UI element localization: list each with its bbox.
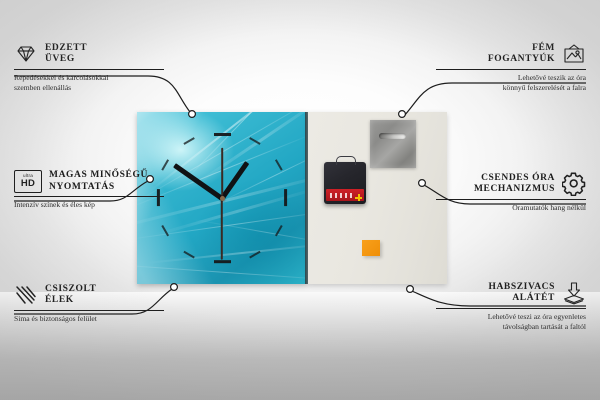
foam-spacer-pad — [362, 240, 380, 256]
callout-header: CSENDES ÓRAMECHANIZMUS — [436, 172, 586, 196]
callout-description: Lehetővé teszik az órakönnyű felszerelés… — [436, 73, 586, 92]
callout-header: HABSZIVACSALÁTÉT — [436, 281, 586, 305]
second-hand-tail — [221, 148, 223, 198]
callout-csendes-ora-mechanizmus: CSENDES ÓRAMECHANIZMUS Óramutatók hang n… — [436, 172, 586, 213]
callout-csiszolt-elek: CSISZOLTÉLEK Sima és biztonságos felület — [14, 283, 164, 324]
callout-rule — [14, 69, 164, 70]
beveled-edge-icon — [14, 283, 38, 307]
callout-rule — [436, 69, 586, 70]
callout-description: Óramutatók hang nélkül — [436, 203, 586, 213]
callout-title: EDZETTÜVEG — [45, 43, 87, 66]
gear-icon — [562, 172, 586, 196]
metal-hanger-plate — [370, 120, 416, 168]
callout-title: FÉMFOGANTYÚK — [488, 43, 555, 66]
hour-hand — [220, 161, 249, 200]
clock-back-panel — [308, 112, 447, 284]
callout-rule — [14, 196, 164, 197]
second-hand — [221, 198, 223, 260]
callout-rule — [436, 199, 586, 200]
product-wall-clock — [137, 112, 447, 284]
hanger-keyhole-slot — [379, 133, 406, 139]
movement-bail — [336, 156, 356, 165]
callout-rule — [14, 310, 164, 311]
callout-description: Repedésekkel és karcolásokkalszemben ell… — [14, 73, 164, 92]
clock-center-pin — [220, 196, 225, 201]
callout-description: Lehetővé teszi az óra egyenletestávolság… — [436, 312, 586, 331]
callout-header: ultraHD MAGAS MINŐSÉGŰNYOMTATÁS — [14, 170, 164, 193]
minute-hand — [173, 163, 223, 200]
callout-header: EDZETTÜVEG — [14, 42, 164, 66]
picture-hanger-icon — [562, 42, 586, 66]
callout-title: HABSZIVACSALÁTÉT — [488, 282, 555, 305]
press-pad-icon — [562, 281, 586, 305]
callout-magas-minosegu-nyomtatas: ultraHD MAGAS MINŐSÉGŰNYOMTATÁS Intenzív… — [14, 170, 164, 210]
ultra-hd-icon: ultraHD — [14, 170, 42, 193]
callout-header: FÉMFOGANTYÚK — [436, 42, 586, 66]
callout-title: MAGAS MINŐSÉGŰNYOMTATÁS — [49, 170, 148, 193]
callout-edzett-uveg: EDZETTÜVEG Repedésekkel és karcolásokkal… — [14, 42, 164, 92]
diamond-icon — [14, 42, 38, 66]
quartz-clock-movement — [324, 162, 366, 204]
callout-fem-fogantyuk: FÉMFOGANTYÚK Lehetővé teszik az órakönny… — [436, 42, 586, 92]
callout-description: Intenzív színek és éles kép — [14, 200, 164, 210]
battery-polarity-icon — [355, 194, 362, 201]
callout-habszivacs-alatet: HABSZIVACSALÁTÉT Lehetővé teszi az óra e… — [436, 281, 586, 331]
callout-title: CSISZOLTÉLEK — [45, 284, 96, 307]
connector-dot-csiszolt-elek — [171, 284, 178, 291]
infographic-canvas: EDZETTÜVEG Repedésekkel és karcolásokkal… — [0, 0, 600, 400]
callout-description: Sima és biztonságos felület — [14, 314, 164, 324]
callout-rule — [436, 308, 586, 309]
callout-header: CSISZOLTÉLEK — [14, 283, 164, 307]
callout-title: CSENDES ÓRAMECHANIZMUS — [474, 173, 555, 196]
